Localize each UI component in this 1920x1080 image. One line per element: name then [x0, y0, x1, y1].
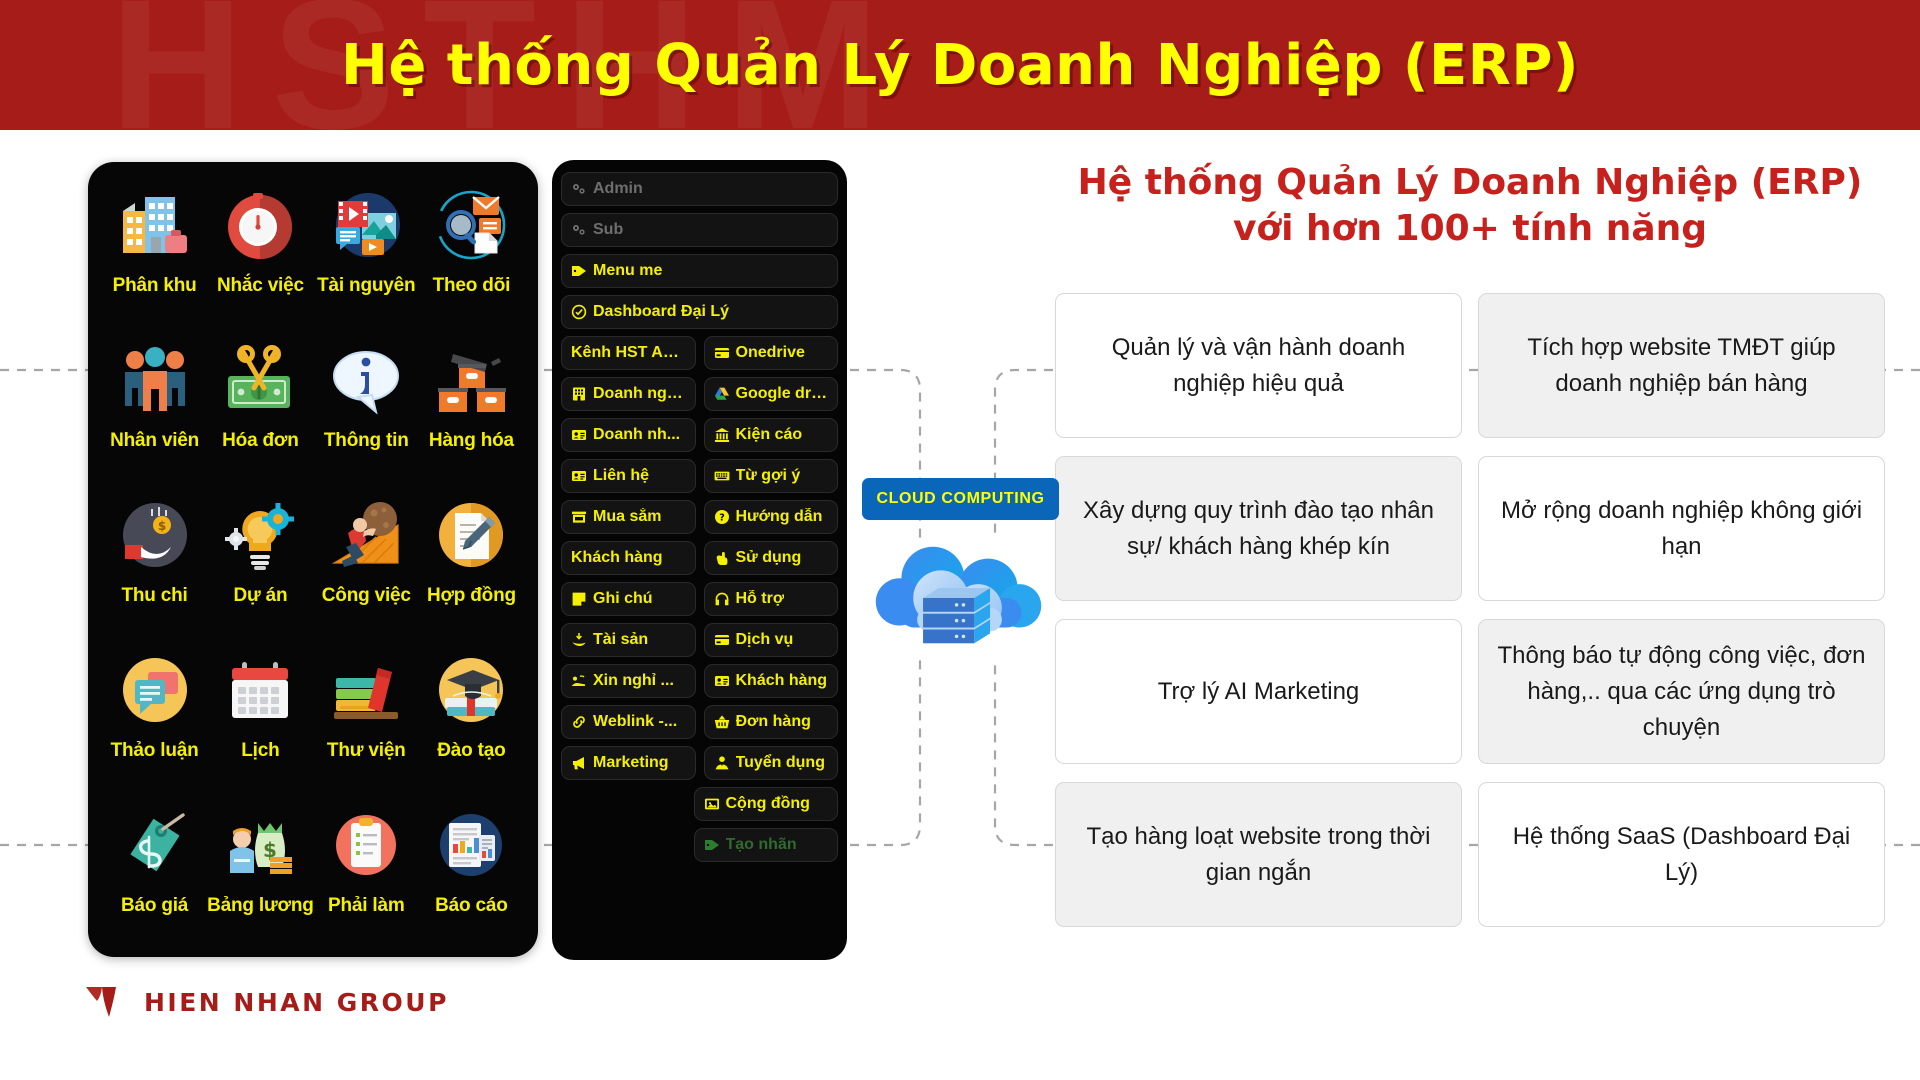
books-icon [325, 649, 407, 731]
people-group-icon [114, 339, 196, 421]
app-icon-label: Thư viện [327, 740, 406, 762]
chat-bubbles-icon [114, 649, 196, 731]
id-card-icon [714, 673, 730, 689]
app-icon-label: Dự án [233, 585, 287, 607]
payroll-money-icon: $ [219, 804, 301, 886]
app-icon-label: Đào tạo [437, 740, 505, 762]
menu-row: Marketing Tuyển dụng [561, 746, 838, 780]
lightbulb-gear-icon [219, 494, 301, 576]
menu-item-label: Mua sắm [593, 508, 661, 526]
info-bubble-icon [325, 339, 407, 421]
money-scissors-icon [219, 339, 301, 421]
app-icon-label: Theo dõi [433, 275, 511, 297]
right-panel-title: Hệ thống Quản Lý Doanh Nghiệp (ERP) với … [1070, 160, 1870, 252]
feature-card[interactable]: Thông báo tự động công việc, đơn hàng,..… [1478, 619, 1885, 764]
app-icon-label: Thu chi [121, 585, 187, 607]
menu-item-label: Doanh ngh... [593, 385, 686, 403]
app-icon-label: Tài nguyên [317, 275, 415, 297]
price-tag-icon [114, 804, 196, 886]
id-card-icon [571, 468, 587, 484]
menu-row: Mua sắm ?Hướng dẫn [561, 500, 838, 534]
hand-pointer-icon [714, 550, 730, 566]
cloud-server-icon [862, 536, 1059, 656]
pushing-boulder-icon [325, 494, 407, 576]
megaphone-icon [571, 755, 587, 771]
report-chart-icon [430, 804, 512, 886]
menu-item-label: Liên hệ [593, 467, 649, 485]
store-icon [571, 509, 587, 525]
menu-item-label: Marketing [593, 754, 669, 772]
app-icon-label: Bảng lương [207, 895, 314, 917]
menu-item-label: Doanh nh... [593, 426, 680, 444]
contract-pen-icon [430, 494, 512, 576]
stopwatch-icon [219, 184, 301, 266]
hien-nhan-mark-icon [86, 985, 130, 1019]
menu-item-label: Onedrive [736, 344, 805, 362]
feature-cards-grid: Quản lý và vận hành doanh nghiệp hiệu qu… [1055, 293, 1885, 927]
menu-row: Xin nghỉ ... Khách hàng [561, 664, 838, 698]
app-icon-lich[interactable]: Lịch [207, 649, 314, 804]
app-icon-label: Lịch [241, 740, 279, 762]
app-icon-label: Phân khu [113, 275, 197, 297]
app-icon-hang-hoa[interactable]: Hàng hóa [419, 339, 524, 494]
app-icon-theo-doi[interactable]: Theo dõi [419, 184, 524, 339]
menu-row: Sub [561, 213, 838, 247]
basket-icon [714, 714, 730, 730]
menu-panel: Admin Sub Menu me Dashboard Đại Lý Kênh … [552, 160, 847, 960]
app-icon-hoa-don[interactable]: Hóa đơn [207, 339, 314, 494]
menu-item-label: Từ gợi ý [736, 467, 801, 485]
gears-icon [571, 222, 587, 238]
app-icon-bao-gia[interactable]: Báo giá [102, 804, 207, 959]
app-icon-label: Hóa đơn [222, 430, 299, 452]
building-icon [571, 386, 587, 402]
app-icon-du-an[interactable]: Dự án [207, 494, 314, 649]
link-icon [571, 714, 587, 730]
menu-item-cong-dong[interactable]: Cộng đồng [694, 787, 839, 821]
tag-icon [571, 263, 587, 279]
calendar-icon [219, 649, 301, 731]
menu-row: Kênh HST AL... Onedrive [561, 336, 838, 370]
app-icon-label: Nhắc việc [217, 275, 304, 297]
google-drive-icon [714, 386, 730, 402]
menu-item-su-dung[interactable]: Sử dụng [704, 541, 839, 575]
app-icon-thu-vien[interactable]: Thư viện [314, 649, 419, 804]
menu-item-ghi-chu[interactable]: Ghi chú [561, 582, 696, 616]
feature-card[interactable]: Hệ thống SaaS (Dashboard Đại Lý) [1478, 782, 1885, 927]
feature-card[interactable]: Mở rộng doanh nghiệp không giới hạn [1478, 456, 1885, 601]
menu-item-weblink[interactable]: Weblink -... [561, 705, 696, 739]
cloud-computing-badge[interactable]: CLOUD COMPUTING [862, 478, 1059, 520]
menu-item-xin-nghi[interactable]: Xin nghỉ ... [561, 664, 696, 698]
menu-item-label: Tuyển dụng [736, 754, 825, 772]
feature-card[interactable]: Trợ lý AI Marketing [1055, 619, 1462, 764]
menu-empty-slot [561, 828, 686, 862]
app-icon-dao-tao[interactable]: Đào tạo [419, 649, 524, 804]
menu-item-tao-nhan[interactable]: Tạo nhãn [694, 828, 839, 862]
app-icon-cong-viec[interactable]: Công việc [314, 494, 419, 649]
menu-item-label: Hướng dẫn [736, 508, 823, 526]
graduation-books-icon [430, 649, 512, 731]
app-icon-bao-cao[interactable]: Báo cáo [419, 804, 524, 959]
menu-item-label: Hỗ trợ [736, 590, 785, 608]
app-icon-thao-luan[interactable]: Thảo luận [102, 649, 207, 804]
app-icon-label: Phải làm [328, 895, 405, 917]
question-circle-icon: ? [714, 509, 730, 525]
menu-item-doanh-nghiep[interactable]: Doanh ngh... [561, 377, 696, 411]
menu-empty-slot [561, 787, 686, 821]
menu-item-kenh-hst-al[interactable]: Kênh HST AL... [561, 336, 696, 370]
menu-row: Admin [561, 172, 838, 206]
feature-card[interactable]: Quản lý và vận hành doanh nghiệp hiệu qu… [1055, 293, 1462, 438]
menu-item-dich-vu[interactable]: Dịch vụ [704, 623, 839, 657]
person-rest-icon [571, 673, 587, 689]
menu-row: Doanh ngh... Google dri... [561, 377, 838, 411]
menu-item-huong-dan[interactable]: ?Hướng dẫn [704, 500, 839, 534]
menu-item-mua-sam[interactable]: Mua sắm [561, 500, 696, 534]
menu-item-onedrive[interactable]: Onedrive [704, 336, 839, 370]
cloud-computing-block: CLOUD COMPUTING [862, 478, 1062, 656]
menu-row: Tạo nhãn [561, 828, 838, 862]
menu-row: Liên hệ Từ gợi ý [561, 459, 838, 493]
menu-item-tuyen-dung[interactable]: Tuyển dụng [704, 746, 839, 780]
app-icon-label: Hàng hóa [429, 430, 514, 452]
hand-receive-icon [571, 632, 587, 648]
feature-card[interactable]: Tạo hàng loạt website trong thời gian ng… [1055, 782, 1462, 927]
app-icon-thong-tin[interactable]: Thông tin [314, 339, 419, 494]
menu-item-don-hang[interactable]: Đơn hàng [704, 705, 839, 739]
menu-item-khach-hang-1[interactable]: Khách hàng [561, 541, 696, 575]
check-circle-icon [571, 304, 587, 320]
menu-item-label: Admin [593, 180, 643, 198]
menu-item-label: Cộng đồng [726, 795, 810, 813]
menu-item-label: Dashboard Đại Lý [593, 303, 729, 321]
page-header: HSTHM Hệ thống Quản Lý Doanh Nghiệp (ERP… [0, 0, 1920, 130]
menu-item-label: Sub [593, 221, 623, 239]
app-icon-bang-luong[interactable]: $ Bảng lương [207, 804, 314, 959]
menu-item-tai-san[interactable]: Tài sản [561, 623, 696, 657]
menu-item-label: Dịch vụ [736, 631, 794, 649]
menu-item-kien-cao[interactable]: Kiện cáo [704, 418, 839, 452]
app-icon-grid: Phân khu Nhắc việc Tài nguyên Theo dõi N… [88, 162, 538, 957]
menu-item-menu-me[interactable]: Menu me [561, 254, 838, 288]
menu-item-label: Khách hàng [736, 672, 828, 690]
bank-icon [714, 427, 730, 443]
sticky-note-icon [571, 591, 587, 607]
menu-row: Ghi chú Hỗ trợ [561, 582, 838, 616]
svg-text:?: ? [719, 513, 725, 524]
menu-item-label: Google dri... [736, 385, 829, 403]
app-icon-label: Báo cáo [435, 895, 508, 917]
menu-item-google-drive[interactable]: Google dri... [704, 377, 839, 411]
boxes-icon [430, 339, 512, 421]
menu-item-ho-tro[interactable]: Hỗ trợ [704, 582, 839, 616]
headset-icon [714, 591, 730, 607]
menu-item-dashboard-dai-ly[interactable]: Dashboard Đại Lý [561, 295, 838, 329]
menu-item-label: Khách hàng [571, 549, 663, 567]
app-icon-nhac-viec[interactable]: Nhắc việc [207, 184, 314, 339]
brand-logo: HIEN NHAN GROUP [86, 985, 449, 1019]
menu-row: Cộng đồng [561, 787, 838, 821]
id-card-icon [571, 427, 587, 443]
menu-item-label: Xin nghỉ ... [593, 672, 674, 690]
menu-item-label: Tạo nhãn [726, 836, 797, 854]
menu-item-label: Weblink -... [593, 713, 677, 731]
keyboard-icon [714, 468, 730, 484]
menu-row: Dashboard Đại Lý [561, 295, 838, 329]
brand-logo-text: HIEN NHAN GROUP [144, 988, 449, 1017]
app-icon-label: Thảo luận [111, 740, 199, 762]
menu-item-label: Ghi chú [593, 590, 653, 608]
hand-coin-icon: $ [114, 494, 196, 576]
menu-row: Weblink -... Đơn hàng [561, 705, 838, 739]
menu-row: Tài sản Dịch vụ [561, 623, 838, 657]
menu-item-tu-goi-y[interactable]: Từ gợi ý [704, 459, 839, 493]
app-icon-tai-nguyen[interactable]: Tài nguyên [314, 184, 419, 339]
magnifier-tracking-icon [430, 184, 512, 266]
menu-row: Doanh nh... Kiện cáo [561, 418, 838, 452]
feature-card[interactable]: Tích hợp website TMĐT giúp doanh nghiệp … [1478, 293, 1885, 438]
menu-item-label: Tài sản [593, 631, 648, 649]
app-icon-label: Công việc [322, 585, 411, 607]
app-icon-thu-chi[interactable]: $ Thu chi [102, 494, 207, 649]
app-icon-phan-khu[interactable]: Phân khu [102, 184, 207, 339]
menu-item-doanh-nhan[interactable]: Doanh nh... [561, 418, 696, 452]
menu-item-label: Kênh HST AL... [571, 344, 686, 362]
gears-icon [571, 181, 587, 197]
svg-text:$: $ [157, 519, 165, 533]
app-icon-phai-lam[interactable]: Phải làm [314, 804, 419, 959]
clipboard-checklist-icon [325, 804, 407, 886]
menu-item-label: Sử dụng [736, 549, 802, 567]
image-frame-icon [704, 796, 720, 812]
menu-item-khach-hang-2[interactable]: Khách hàng [704, 664, 839, 698]
drive-card-icon [714, 632, 730, 648]
feature-card[interactable]: Xây dựng quy trình đào tạo nhân sự/ khác… [1055, 456, 1462, 601]
tag-icon [704, 837, 720, 853]
office-building-icon [114, 184, 196, 266]
media-resources-icon [325, 184, 407, 266]
menu-item-sub[interactable]: Sub [561, 213, 838, 247]
menu-item-label: Đơn hàng [736, 713, 811, 731]
menu-row: Menu me [561, 254, 838, 288]
menu-item-label: Menu me [593, 262, 662, 280]
drive-card-icon [714, 345, 730, 361]
page-title: Hệ thống Quản Lý Doanh Nghiệp (ERP) [341, 33, 1579, 98]
app-icon-nhan-vien[interactable]: Nhân viên [102, 339, 207, 494]
menu-item-label: Kiện cáo [736, 426, 803, 444]
menu-item-lien-he[interactable]: Liên hệ [561, 459, 696, 493]
menu-item-admin[interactable]: Admin [561, 172, 838, 206]
app-icon-label: Báo giá [121, 895, 188, 917]
app-icon-hop-dong[interactable]: Hợp đồng [419, 494, 524, 649]
menu-row: Khách hàng Sử dụng [561, 541, 838, 575]
app-icon-label: Hợp đồng [427, 585, 516, 607]
app-icon-label: Nhân viên [110, 430, 199, 452]
user-tie-icon [714, 755, 730, 771]
menu-item-marketing[interactable]: Marketing [561, 746, 696, 780]
app-icon-label: Thông tin [324, 430, 409, 452]
